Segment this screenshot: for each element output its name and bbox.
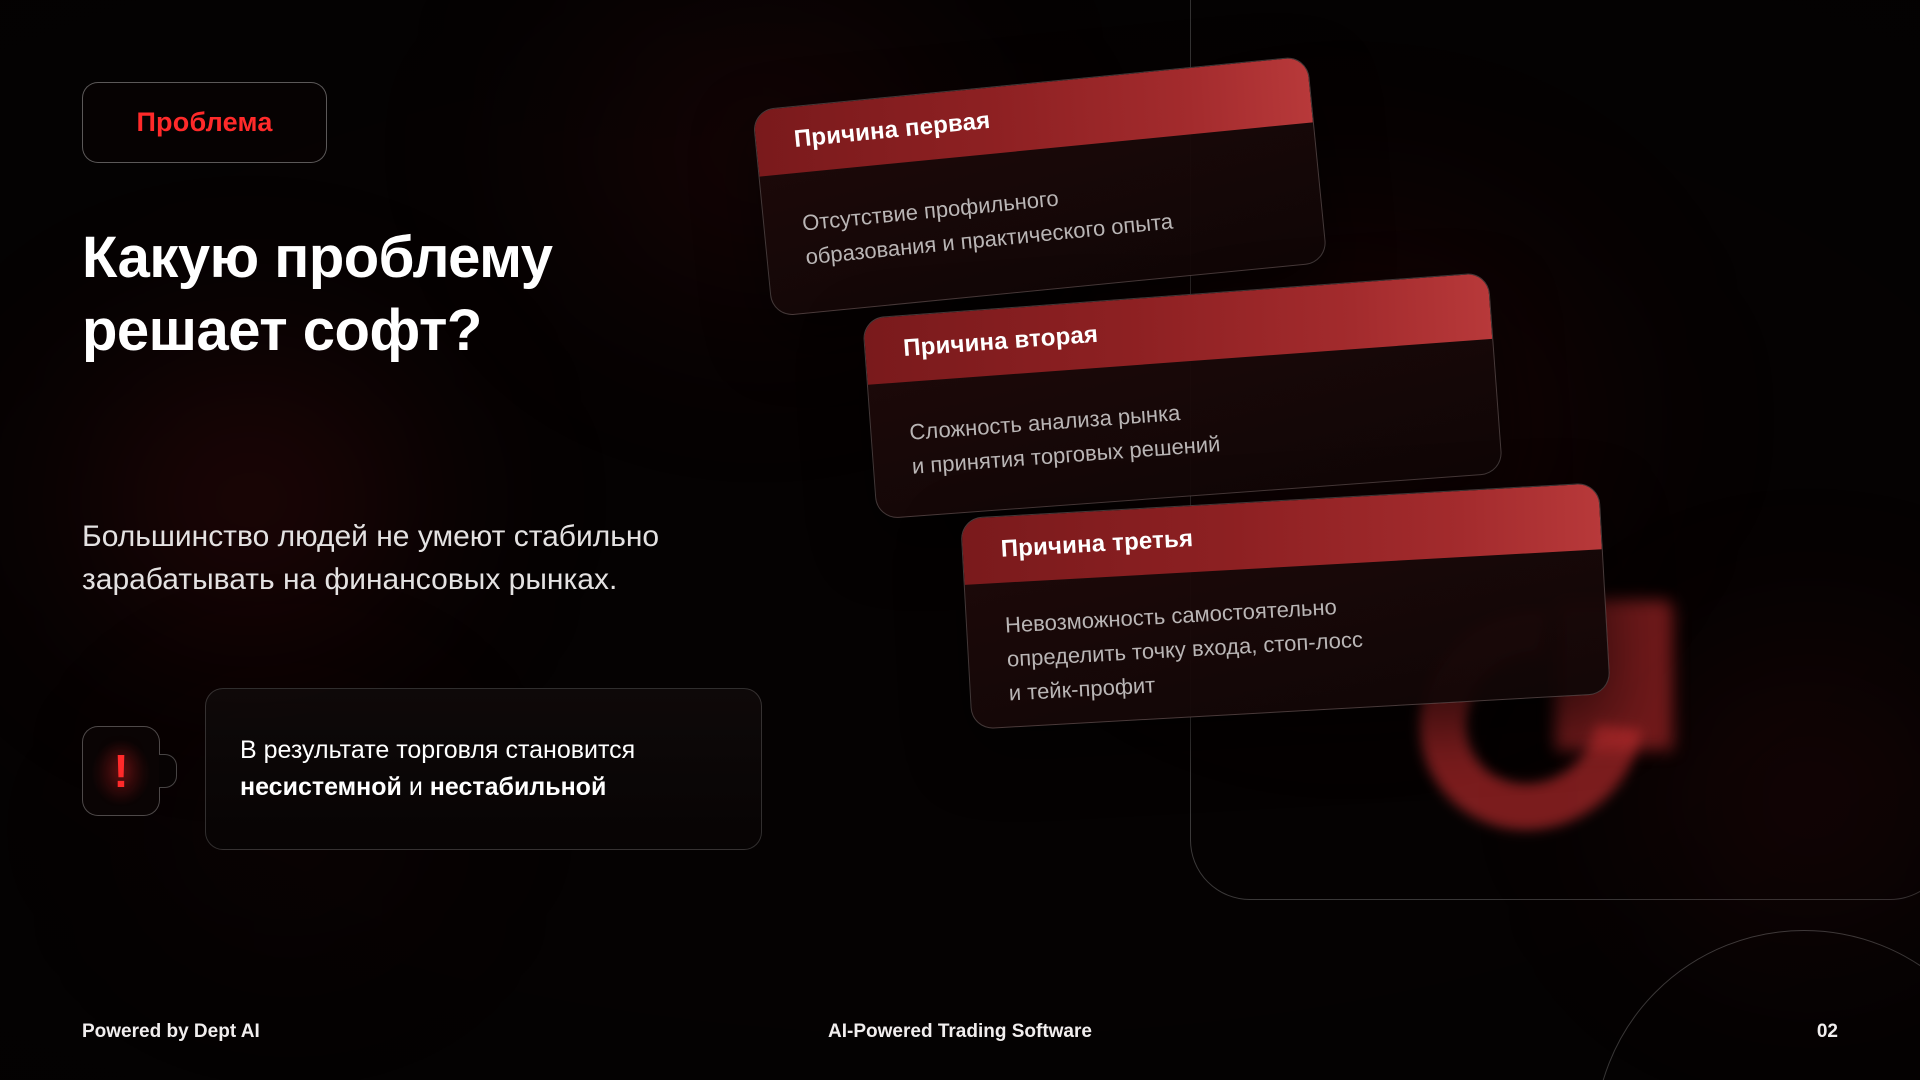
- slide-root: Проблема Какую проблемурешает софт? Боль…: [0, 0, 1920, 1080]
- reason-card-1-title: Причина первая: [793, 107, 992, 154]
- reason-card-3[interactable]: Причина третья Невозможность самостоятел…: [960, 482, 1611, 729]
- reason-card-2-title: Причина вторая: [902, 321, 1099, 363]
- reason-card-1[interactable]: Причина первая Отсутствие профильногообр…: [752, 56, 1328, 317]
- footer-page-number: 02: [1817, 1021, 1838, 1043]
- reason-card-2[interactable]: Причина вторая Сложность анализа рынкаи …: [862, 272, 1503, 519]
- reason-cards: Причина первая Отсутствие профильногообр…: [0, 0, 1920, 1080]
- slide-footer: Powered by Dept AI AI-Powered Trading So…: [0, 984, 1920, 1080]
- footer-deck-title: AI-Powered Trading Software: [0, 1021, 1920, 1043]
- reason-card-3-title: Причина третья: [1000, 525, 1194, 564]
